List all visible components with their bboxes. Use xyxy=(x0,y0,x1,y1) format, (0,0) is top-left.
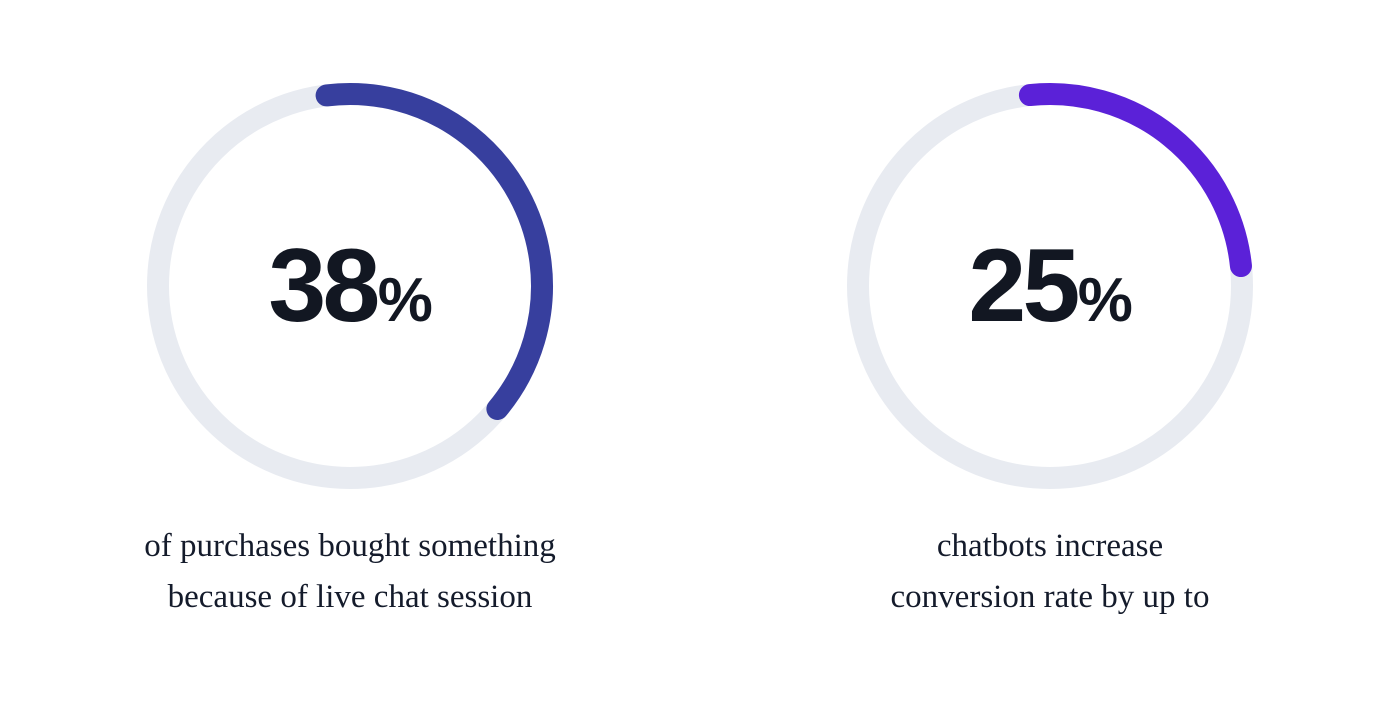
gauge-value-arc-1 xyxy=(143,79,557,493)
donut-gauge-chatbot-conversion-rate: 25 % xyxy=(843,79,1257,493)
stat-card-chatbot-conversion-rate: 25 % chatbots increase conversion rate b… xyxy=(700,0,1400,723)
stat-caption-1-line-2: because of live chat session xyxy=(70,572,630,623)
stat-caption-1: of purchases bought something because of… xyxy=(70,521,630,623)
gauge-value-arc-2 xyxy=(843,79,1257,493)
donut-gauge-svg-2 xyxy=(843,79,1257,493)
donut-gauge-live-chat-purchases: 38 % xyxy=(143,79,557,493)
stat-caption-1-line-1: of purchases bought something xyxy=(70,521,630,572)
stat-caption-2-line-2: conversion rate by up to xyxy=(770,572,1330,623)
stat-caption-2: chatbots increase conversion rate by up … xyxy=(770,521,1330,623)
stat-card-live-chat-purchases: 38 % of purchases bought something becau… xyxy=(0,0,700,723)
donut-gauge-svg-1 xyxy=(143,79,557,493)
stat-caption-2-line-1: chatbots increase xyxy=(770,521,1330,572)
stats-board: 38 % of purchases bought something becau… xyxy=(0,0,1400,723)
